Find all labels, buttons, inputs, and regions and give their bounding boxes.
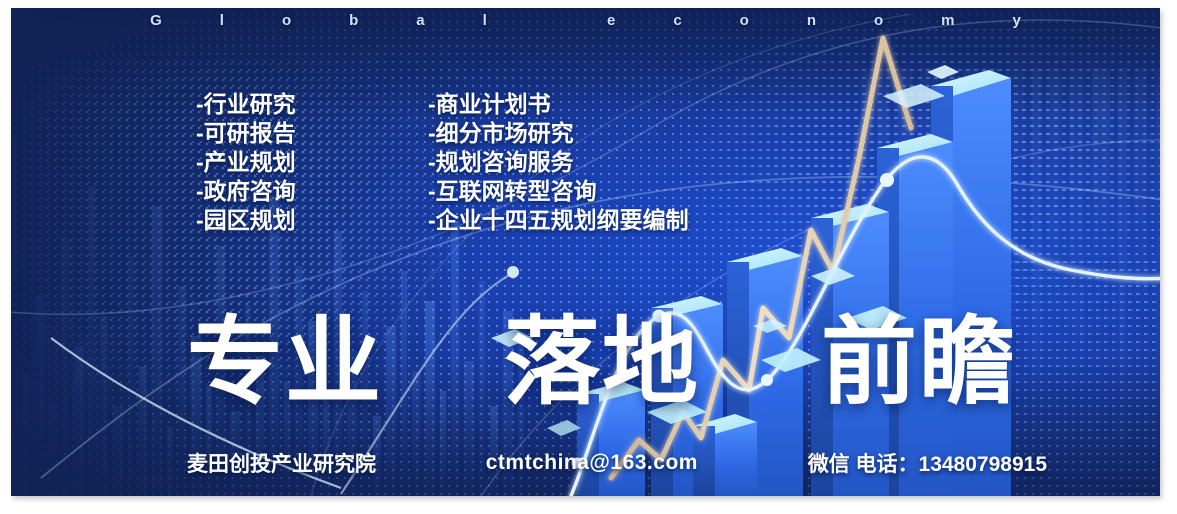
- service-item: -企业十四五规划纲要编制: [428, 206, 689, 235]
- email-address[interactable]: ctmtchina@163.com: [486, 451, 698, 475]
- curve-node: [880, 173, 894, 187]
- service-item: -政府咨询: [196, 177, 296, 206]
- company-name: 麦田创投产业研究院: [187, 448, 376, 478]
- service-item: -行业研究: [196, 90, 296, 119]
- service-item: -可研报告: [196, 119, 296, 148]
- headline-word: 落地: [504, 315, 700, 411]
- header-kerned-title: Global economy: [11, 12, 1160, 29]
- phone-contact: 微信 电话：13480798915: [808, 448, 1047, 478]
- service-item: -规划咨询服务: [428, 148, 689, 177]
- service-item: -产业规划: [196, 148, 296, 177]
- arc-node: [507, 266, 519, 278]
- headline-word: 专业: [187, 315, 383, 411]
- headline-slogan: 专业 落地 前瞻: [187, 308, 1017, 418]
- service-item: -互联网转型咨询: [428, 177, 689, 206]
- service-list-right: -商业计划书 -细分市场研究 -规划咨询服务 -互联网转型咨询 -企业十四五规划…: [428, 90, 689, 235]
- marketing-banner: Global economy -行业研究 -可研报告 -产业规划 -政府咨询 -…: [11, 8, 1160, 496]
- service-list-left: -行业研究 -可研报告 -产业规划 -政府咨询 -园区规划: [196, 90, 296, 235]
- headline-word: 前瞻: [821, 315, 1017, 411]
- service-item: -园区规划: [196, 206, 296, 235]
- growth-chart-graphic: [11, 8, 1160, 496]
- footer-contact-row: 麦田创投产业研究院 ctmtchina@163.com 微信 电话：134807…: [187, 448, 1047, 478]
- service-item: -商业计划书: [428, 90, 689, 119]
- service-item: -细分市场研究: [428, 119, 689, 148]
